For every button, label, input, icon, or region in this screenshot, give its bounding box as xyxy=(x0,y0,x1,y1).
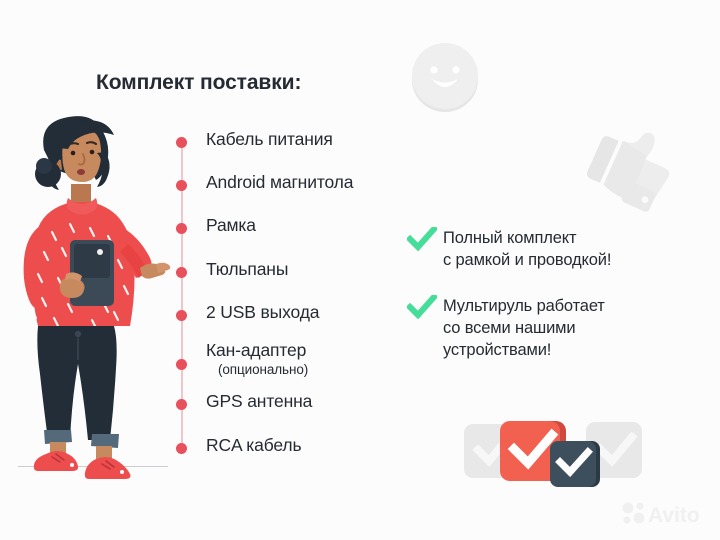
avito-watermark: Avito xyxy=(620,500,712,528)
woman-pointing-illustration xyxy=(8,112,178,484)
list-item: Тюльпаны xyxy=(176,260,288,280)
list-item-sublabel: (опционально) xyxy=(218,363,308,377)
list-item-label: RCA кабель xyxy=(206,435,301,455)
bullet-dot-icon xyxy=(176,359,187,370)
thumbs-up-icon xyxy=(576,108,688,212)
checkbox-group-icon xyxy=(462,412,642,492)
bullet-dot-icon xyxy=(176,137,187,148)
check-icon xyxy=(407,295,437,326)
bullet-dot-icon xyxy=(176,267,187,278)
list-item-label: Android магнитола xyxy=(206,172,353,192)
list-item: RCA кабель xyxy=(176,436,301,456)
list-item-label: GPS антенна xyxy=(206,391,312,411)
feature-item: Мультируль работает со всеми нашими устр… xyxy=(407,296,605,362)
svg-text:Avito: Avito xyxy=(648,504,700,527)
list-item: Рамка xyxy=(176,216,256,236)
check-icon xyxy=(407,227,437,258)
list-item: Кан-адаптер (опционально) xyxy=(176,341,308,377)
list-item: 2 USB выхода xyxy=(176,303,319,323)
bullet-dot-icon xyxy=(176,399,187,410)
smiley-face-icon xyxy=(406,38,484,116)
poster-canvas: Комплект поставки: Кабель питания Androi… xyxy=(0,0,720,540)
bullet-dot-icon xyxy=(176,443,187,454)
bullet-dot-icon xyxy=(176,180,187,191)
list-item-label: Кабель питания xyxy=(206,129,333,149)
list-item-label: 2 USB выхода xyxy=(206,302,319,322)
list-item: GPS антенна xyxy=(176,392,312,412)
list-item-label: Кан-адаптер xyxy=(206,340,306,360)
feature-text: Полный комплект с рамкой и проводкой! xyxy=(443,228,611,272)
list-item: Кабель питания xyxy=(176,130,333,150)
list-item-label: Тюльпаны xyxy=(206,259,288,279)
feature-item: Полный комплект с рамкой и проводкой! xyxy=(407,228,611,272)
bullet-dot-icon xyxy=(176,310,187,321)
feature-text: Мультируль работает со всеми нашими устр… xyxy=(443,296,605,362)
list-item-label: Рамка xyxy=(206,215,256,235)
page-title: Комплект поставки: xyxy=(96,71,301,95)
avito-logo-icon xyxy=(623,502,645,523)
list-item: Android магнитола xyxy=(176,173,353,193)
bullet-dot-icon xyxy=(176,223,187,234)
